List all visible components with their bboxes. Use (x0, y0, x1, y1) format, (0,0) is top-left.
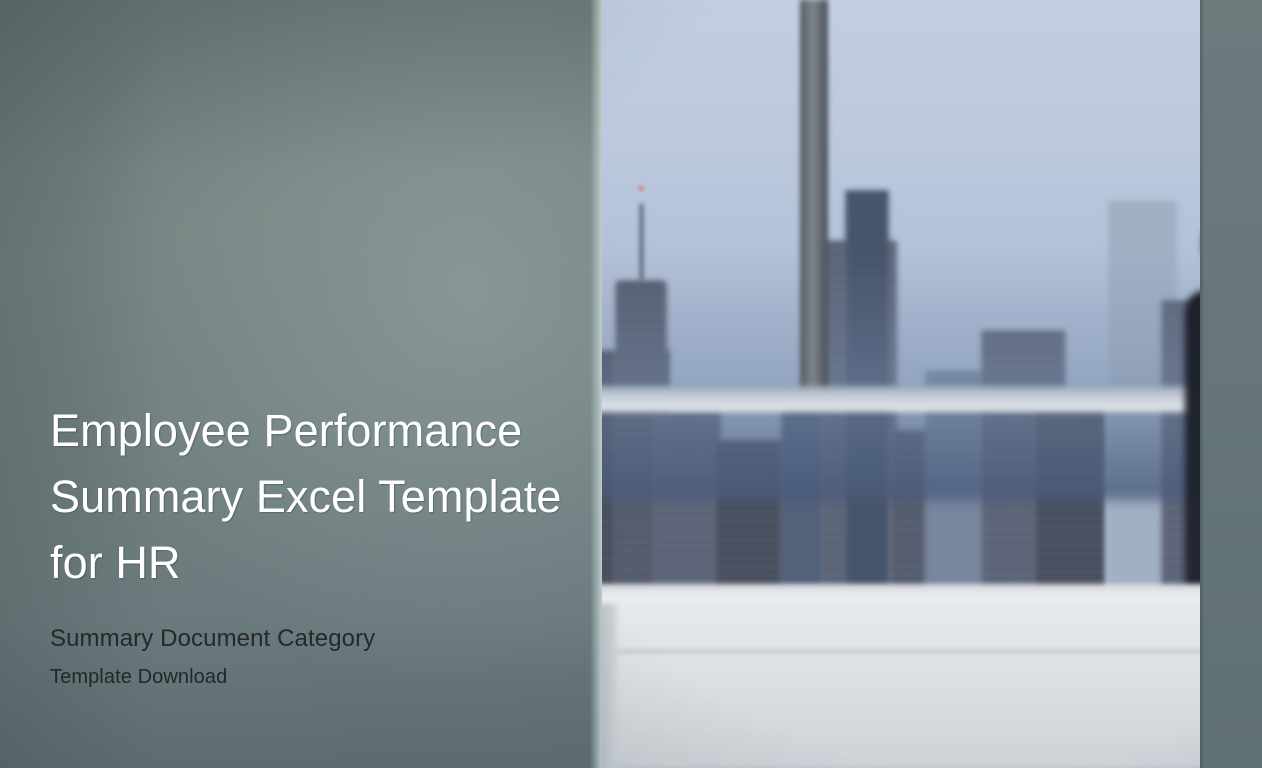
spire-light (639, 186, 643, 191)
window-sill (595, 386, 1262, 412)
title-block: Employee Performance Summary Excel Templ… (50, 398, 570, 690)
desk-surface (595, 600, 1262, 768)
wall-highlight-edge (590, 0, 602, 768)
slide-root: Employee Performance Summary Excel Templ… (0, 0, 1262, 768)
subtitle-primary: Summary Document Category (50, 624, 570, 654)
subtitle-secondary: Template Download (50, 664, 570, 690)
page-title: Employee Performance Summary Excel Templ… (50, 398, 570, 596)
desk-edge (595, 650, 1262, 653)
window-mullion-icon (800, 0, 828, 402)
atmospheric-haze (595, 250, 1262, 500)
hero-photo (595, 0, 1262, 768)
right-color-panel (1200, 0, 1262, 768)
